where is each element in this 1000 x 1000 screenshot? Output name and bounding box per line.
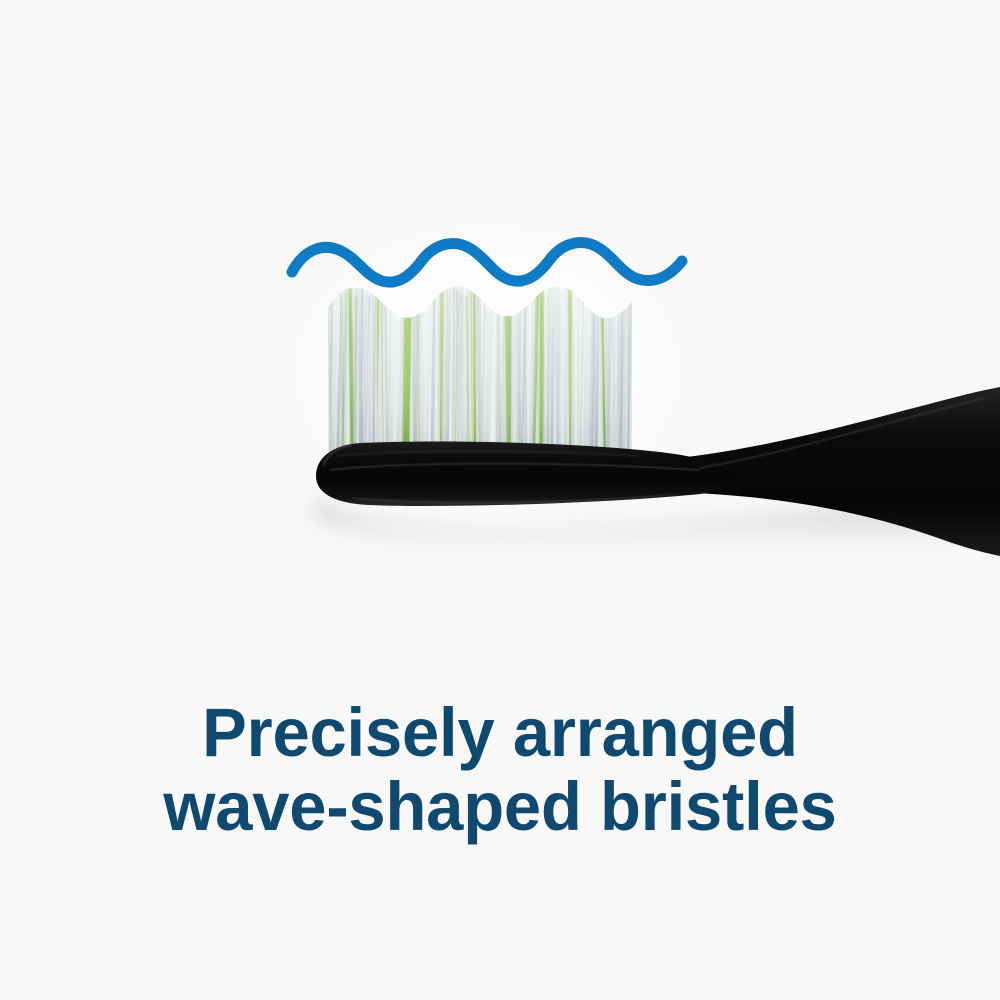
caption-line-1: Precisely arranged <box>15 700 985 766</box>
caption-line-2: wave-shaped bristles <box>15 774 985 840</box>
caption: Precisely arranged wave-shaped bristles <box>0 700 1000 840</box>
product-feature-poster: Precisely arranged wave-shaped bristles <box>0 0 1000 1000</box>
product-image <box>0 0 1000 640</box>
